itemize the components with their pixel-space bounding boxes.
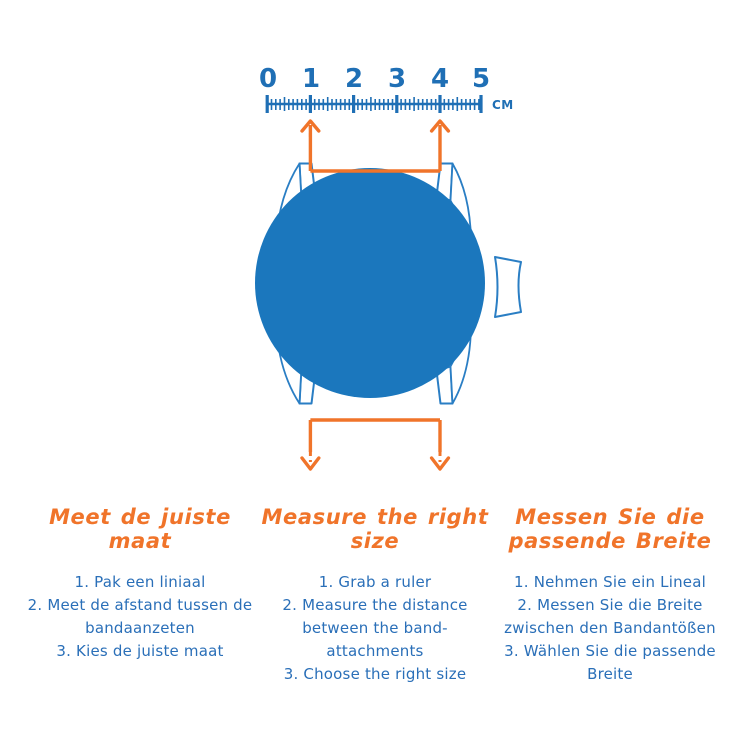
step-item: 2. Meet de afstand tussen de bandaanzete… (24, 594, 256, 640)
step-item: 3. Wählen Sie die passende Breite (494, 640, 726, 686)
measurement-bracket-top (302, 121, 448, 171)
step-item: 2. Measure the distance between the band… (259, 594, 491, 663)
step-item: 3. Kies de juiste maat (24, 640, 256, 663)
instruction-column-nl: Meet de juiste maat 1. Pak een liniaal 2… (24, 505, 256, 663)
watch-dial (255, 168, 485, 398)
measurement-bracket-bottom (302, 420, 448, 469)
instruction-columns: Meet de juiste maat 1. Pak een liniaal 2… (0, 505, 750, 750)
instruction-column-de: Messen Sie die passende Breite 1. Nehmen… (494, 505, 726, 686)
column-heading-de: Messen Sie die passende Breite (494, 505, 726, 553)
watch-measurement-illustration: 0 1 2 3 4 5 CM (0, 0, 750, 500)
watch-crown (495, 257, 521, 317)
arrow-down-left-icon (302, 458, 319, 469)
column-steps-en: 1. Grab a ruler 2. Measure the distance … (259, 571, 491, 686)
watch-size-infographic: 0 1 2 3 4 5 CM Meet de juiste maat 1. Pa… (0, 0, 750, 750)
column-heading-en: Measure the right size (259, 505, 491, 553)
illustration-svg (0, 0, 750, 500)
column-steps-de: 1. Nehmen Sie ein Lineal 2. Messen Sie d… (494, 571, 726, 686)
arrow-down-right-icon (432, 458, 449, 469)
instruction-column-en: Measure the right size 1. Grab a ruler 2… (259, 505, 491, 686)
column-steps-nl: 1. Pak een liniaal 2. Meet de afstand tu… (24, 571, 256, 663)
column-heading-nl: Meet de juiste maat (24, 505, 256, 553)
step-item: 1. Grab a ruler (259, 571, 491, 594)
step-item: 3. Choose the right size (259, 663, 491, 686)
step-item: 2. Messen Sie die Breite zwischen den Ba… (494, 594, 726, 640)
step-item: 1. Nehmen Sie ein Lineal (494, 571, 726, 594)
step-item: 1. Pak een liniaal (24, 571, 256, 594)
ruler-graphic (266, 95, 482, 113)
ruler-unit-label: CM (492, 98, 514, 112)
